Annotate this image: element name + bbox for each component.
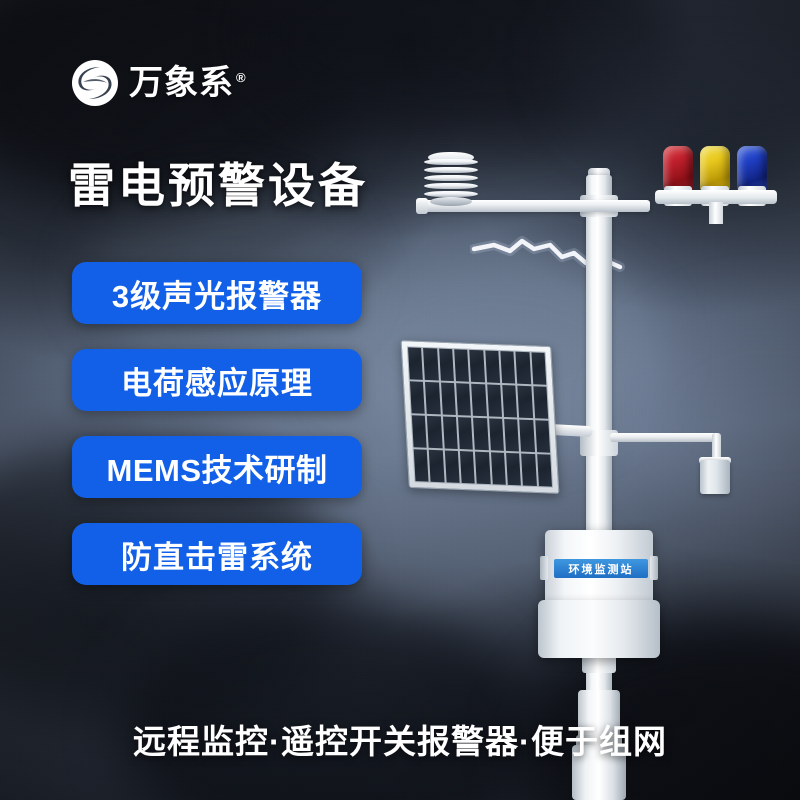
- rain-gauge-sensor: [700, 460, 730, 494]
- tri-color-alarm-beacon: [663, 146, 768, 208]
- blue-alarm-lamp: [737, 146, 767, 190]
- swirl-logo-icon: [70, 58, 120, 108]
- page-title: 雷电预警设备: [68, 160, 368, 212]
- beacon-stem: [709, 202, 723, 224]
- cabinet-name-plate: 环境监测站: [554, 559, 648, 578]
- rain-gauge-boom-arm: [610, 433, 720, 442]
- feature-badge-list: 3级声光报警器 电荷感应原理 MEMS技术研制 防直击雷系统: [72, 262, 362, 585]
- red-alarm-lamp: [663, 146, 693, 190]
- control-cabinet-lower: [538, 600, 660, 658]
- footer-tagline: 远程监控·遥控开关报警器·便于组网: [0, 715, 800, 763]
- solar-panel: [401, 340, 560, 494]
- brand-name: 万象系®: [129, 66, 247, 100]
- yellow-alarm-lamp: [700, 146, 730, 190]
- poster-canvas: 环境监测站 万象系® 雷电预警设备 3级声光报警器 电荷感应原理 MEMS技术研…: [0, 0, 800, 800]
- cabinet-bracket-left: [540, 556, 548, 580]
- radiation-shield-sensor: [424, 157, 478, 203]
- brand-logo: 万象系®: [70, 58, 247, 108]
- feature-badge: MEMS技术研制: [72, 436, 362, 498]
- registered-mark: ®: [236, 70, 247, 85]
- solar-cell-grid: [407, 346, 553, 487]
- cabinet-bracket-right: [650, 556, 658, 580]
- feature-badge: 电荷感应原理: [72, 349, 362, 411]
- feature-badge: 3级声光报警器: [72, 262, 362, 324]
- feature-badge: 防直击雷系统: [72, 523, 362, 585]
- brand-name-text: 万象系: [129, 64, 234, 102]
